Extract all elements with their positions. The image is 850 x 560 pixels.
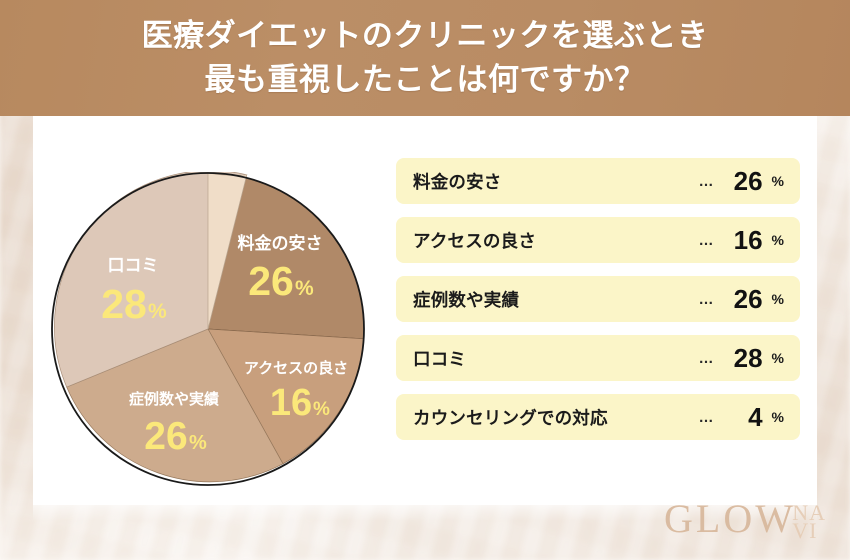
legend-unit: % <box>772 173 784 189</box>
pie-pct-price: 26 <box>248 258 294 304</box>
legend-row-counseling[interactable]: カウンセリングでの対応 … 4 % <box>396 394 800 440</box>
legend-label: アクセスの良さ <box>413 228 536 253</box>
pie-label-access: アクセスの良さ <box>244 359 348 377</box>
pie-chart-svg: 料金の安さ 26 % アクセスの良さ 16 % 症例数や実績 26 % 口コミ … <box>51 172 365 486</box>
pie-pct-sign-price: % <box>295 277 314 300</box>
pie-pct-reviews: 28 <box>101 281 147 327</box>
brand-watermark: GLOW NA VI <box>664 492 828 548</box>
legend-unit: % <box>772 291 784 307</box>
legend-dots-icon: … <box>699 409 715 426</box>
legend-label: 料金の安さ <box>413 169 502 194</box>
legend-value: 26 <box>727 166 763 197</box>
legend-value: 4 <box>727 402 763 433</box>
legend-label: 症例数や実績 <box>413 287 519 312</box>
legend-dots-icon: … <box>699 291 715 308</box>
legend-dots-icon: … <box>699 173 715 190</box>
pie-chart: 料金の安さ 26 % アクセスの良さ 16 % 症例数や実績 26 % 口コミ … <box>51 172 365 486</box>
header-banner: 医療ダイエットのクリニックを選ぶとき 最も重視したことは何ですか？ <box>0 0 850 116</box>
legend-row-access[interactable]: アクセスの良さ … 16 % <box>396 217 800 263</box>
pie-label-reviews: 口コミ <box>108 256 159 275</box>
pie-pct-sign-access: % <box>313 399 330 420</box>
legend-unit: % <box>772 232 784 248</box>
legend-dots-icon: … <box>699 350 715 367</box>
infographic-canvas: 医療ダイエットのクリニックを選ぶとき 最も重視したことは何ですか？ 料金の安さ … <box>0 0 850 560</box>
legend-list: 料金の安さ … 26 % アクセスの良さ … 16 % 症例数や実績 … 26 … <box>396 158 800 440</box>
legend-row-reviews[interactable]: 口コミ … 28 % <box>396 335 800 381</box>
pie-pct-sign-cases: % <box>189 432 207 454</box>
brand-sub-name: NA VI <box>792 504 826 540</box>
pie-pct-cases: 26 <box>144 415 187 458</box>
pie-pct-sign-reviews: % <box>148 300 167 323</box>
legend-unit: % <box>772 409 784 425</box>
pie-pct-access: 16 <box>270 382 312 424</box>
legend-unit: % <box>772 350 784 366</box>
legend-label: 口コミ <box>413 346 466 371</box>
header-title-line-2: 最も重視したことは何ですか？ <box>205 58 646 102</box>
legend-label: カウンセリングでの対応 <box>413 405 608 430</box>
legend-value: 26 <box>727 284 763 315</box>
brand-name: GLOW <box>664 495 796 542</box>
legend-row-price[interactable]: 料金の安さ … 26 % <box>396 158 800 204</box>
pie-label-price: 料金の安さ <box>238 233 323 253</box>
pie-label-cases: 症例数や実績 <box>129 390 219 408</box>
legend-dots-icon: … <box>699 232 715 249</box>
header-title-line-1: 医療ダイエットのクリニックを選ぶとき <box>142 14 709 58</box>
legend-row-cases[interactable]: 症例数や実績 … 26 % <box>396 276 800 322</box>
legend-value: 28 <box>727 343 763 374</box>
legend-value: 16 <box>727 225 763 256</box>
